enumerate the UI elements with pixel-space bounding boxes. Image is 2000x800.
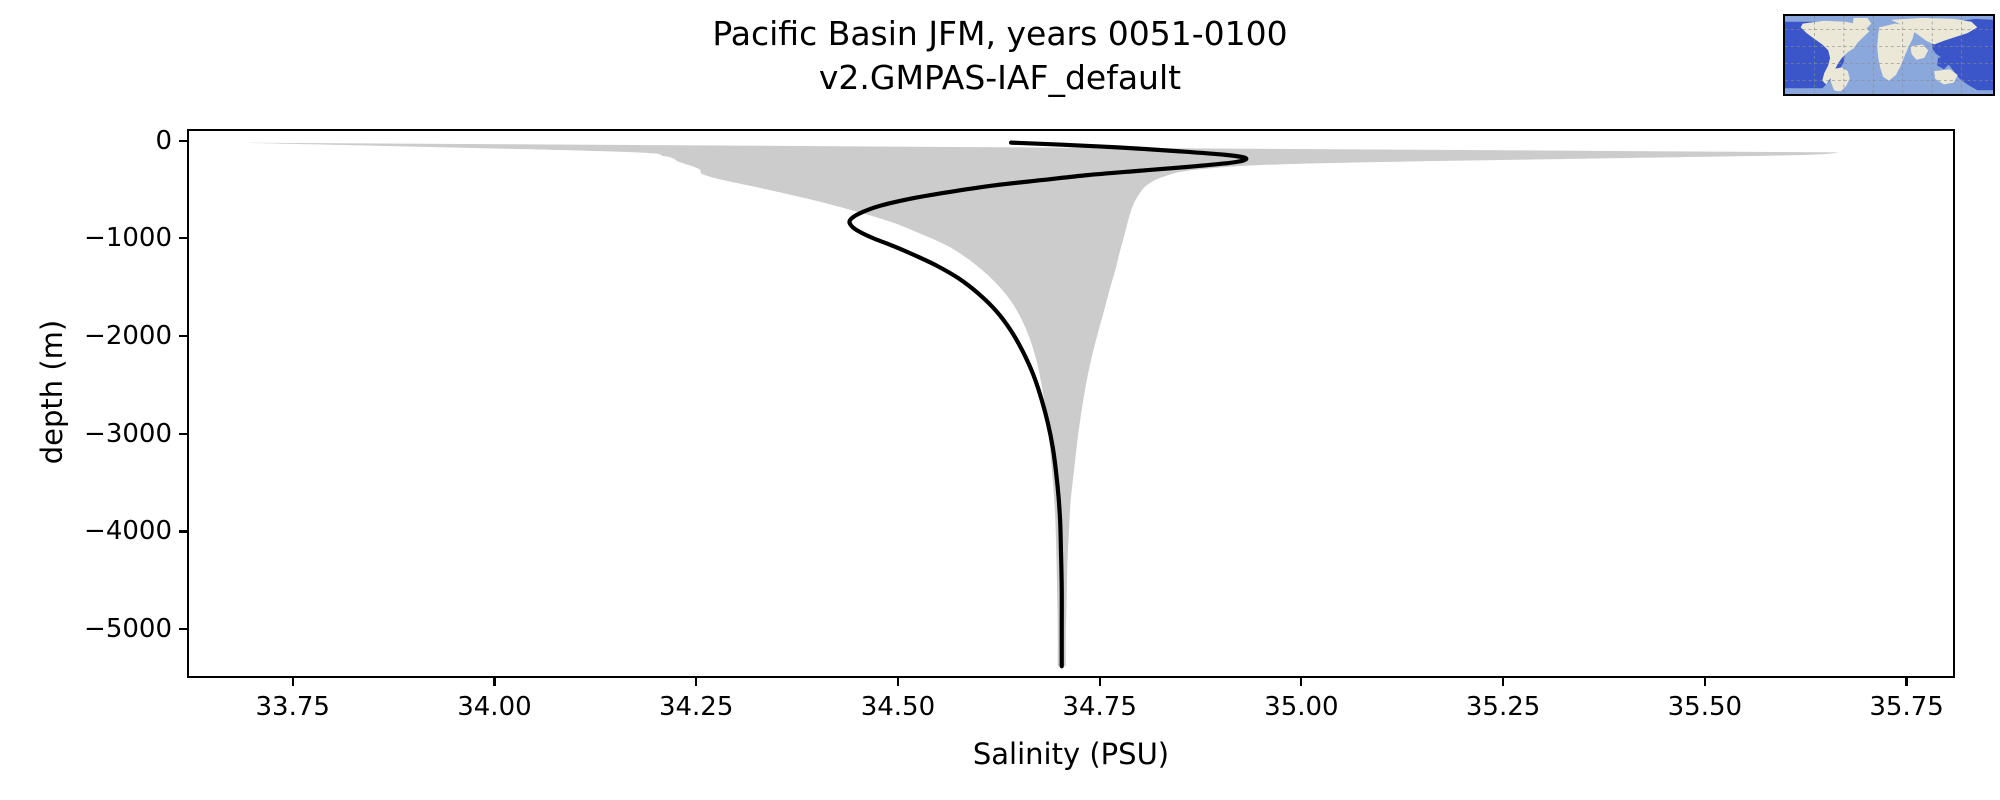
chart-title: Pacific Basin JFM, years 0051-0100 v2.GM… [0, 12, 2000, 99]
y-tick-mark [179, 433, 187, 435]
x-tick-mark [1905, 678, 1907, 686]
x-tick-mark [1502, 678, 1504, 686]
y-tick-mark [179, 335, 187, 337]
x-tick-label: 35.25 [1466, 692, 1540, 722]
plot-axes [187, 129, 1955, 678]
figure-canvas: Pacific Basin JFM, years 0051-0100 v2.GM… [0, 0, 2000, 800]
y-tick-label: −2000 [0, 321, 172, 351]
x-tick-label: 35.75 [1869, 692, 1943, 722]
x-tick-mark [292, 678, 294, 686]
x-tick-label: 34.25 [659, 692, 733, 722]
y-axis-label: depth (m) [35, 252, 69, 532]
y-tick-label: −3000 [0, 419, 172, 449]
region-locator-map [1783, 14, 1995, 96]
y-tick-mark [179, 628, 187, 630]
salinity-depth-profile-plot [189, 131, 1953, 676]
x-tick-label: 34.50 [861, 692, 935, 722]
chart-title-line-1: Pacific Basin JFM, years 0051-0100 [0, 12, 2000, 56]
y-tick-label: 0 [0, 126, 172, 156]
x-tick-mark [1099, 678, 1101, 686]
x-tick-mark [493, 678, 495, 686]
x-axis-label: Salinity (PSU) [187, 737, 1955, 771]
x-tick-label: 33.75 [255, 692, 329, 722]
x-tick-label: 35.00 [1264, 692, 1338, 722]
x-tick-mark [897, 678, 899, 686]
world-map-svg [1785, 16, 1993, 94]
x-tick-mark [1704, 678, 1706, 686]
y-tick-mark [179, 140, 187, 142]
x-tick-mark [695, 678, 697, 686]
y-tick-label: −1000 [0, 223, 172, 253]
x-tick-label: 34.00 [457, 692, 531, 722]
y-tick-label: −5000 [0, 614, 172, 644]
y-tick-mark [179, 237, 187, 239]
x-tick-mark [1300, 678, 1302, 686]
y-tick-mark [179, 530, 187, 532]
std-deviation-band [238, 143, 1840, 667]
chart-title-line-2: v2.GMPAS-IAF_default [0, 56, 2000, 100]
x-tick-label: 35.50 [1668, 692, 1742, 722]
x-tick-label: 34.75 [1062, 692, 1136, 722]
y-tick-label: −4000 [0, 516, 172, 546]
